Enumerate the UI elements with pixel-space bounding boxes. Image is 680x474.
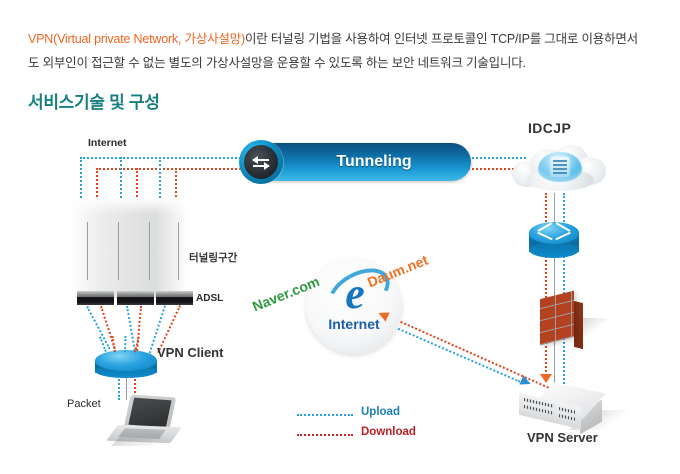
intro-paragraph: VPN(Virtual private Network, 가상사설망)이란 터널… (28, 27, 646, 75)
packet-label: Packet (67, 398, 101, 410)
internet-circle-label: Internet (306, 316, 402, 332)
tunnel-line-4 (178, 222, 179, 280)
server-row (553, 164, 567, 166)
cloud-router-solid (554, 193, 555, 225)
tunneling-bar: Tunneling (243, 143, 471, 181)
bidirectional-arrows-icon (239, 140, 283, 184)
adsl-modem (77, 291, 114, 305)
server-row (553, 160, 567, 162)
firewall-brick-wall (540, 291, 574, 345)
server-stack-icon (551, 157, 569, 176)
arrow-left-icon (253, 159, 269, 161)
idc-cloud (512, 143, 608, 195)
cloud-dome (538, 152, 582, 182)
vpn-client-label: VPN Client (157, 345, 223, 360)
download-cloud-router (545, 193, 547, 225)
legend-item-download: Download (297, 425, 437, 445)
upload-diagonal (391, 325, 520, 383)
server-vent (559, 407, 575, 414)
legend-item-upload: Upload (297, 405, 437, 425)
download-line-top (96, 168, 248, 170)
diagram-page: VPN(Virtual private Network, 가상사설망)이란 터널… (0, 0, 680, 474)
portal-label-daum: Daum.net (365, 252, 430, 291)
laptop-shadow (111, 438, 181, 446)
server-row (553, 168, 567, 170)
idc-router (529, 222, 579, 258)
upload-line-top (80, 157, 248, 159)
legend: Upload Download (297, 405, 437, 445)
laptop-screen (128, 398, 171, 428)
tunnel-line-1 (87, 222, 88, 280)
router-top (95, 350, 157, 371)
upload-arrow-server (519, 375, 532, 388)
section-heading: 서비스기술 및 구성 (28, 88, 160, 113)
firewall-side (574, 301, 583, 349)
router-firewall-solid (554, 256, 555, 298)
internet-label: Internet (88, 137, 127, 149)
idcjp-label: IDCJP (528, 120, 571, 136)
legend-dash-download (297, 434, 353, 436)
download-router-firewall (545, 256, 547, 298)
download-arrow-server (540, 374, 552, 383)
adsl-label: ADSL (196, 293, 223, 304)
upload-fan-2 (126, 306, 136, 351)
intro-highlight: VPN(Virtual private Network, 가상사설망) (28, 32, 245, 46)
modem-body (117, 297, 154, 305)
adsl-modem (117, 291, 154, 305)
modem-body (77, 297, 114, 305)
vpn-client-router (95, 350, 157, 376)
laptop (107, 396, 185, 448)
legend-label-upload: Upload (361, 406, 400, 418)
vpn-server-label: VPN Server (527, 430, 598, 445)
tunnel-line-3 (149, 222, 150, 280)
arrow-right-icon (253, 165, 269, 167)
vpn-server-appliance (519, 388, 615, 428)
upload-cloud-router (563, 193, 565, 225)
legend-label-download: Download (361, 426, 416, 438)
download-line-to-cloud (468, 168, 518, 170)
legend-dash-upload (297, 414, 353, 416)
upload-router-firewall (563, 256, 565, 298)
router-bottom (529, 242, 579, 258)
modem-body (156, 297, 193, 305)
server-vent (559, 414, 575, 421)
server-row (553, 172, 567, 174)
tunnel-zone-label: 터널링구간 (189, 250, 237, 265)
tunnel-cylinder (70, 198, 188, 298)
tunnel-line-2 (118, 222, 119, 280)
adsl-modem (156, 291, 193, 305)
